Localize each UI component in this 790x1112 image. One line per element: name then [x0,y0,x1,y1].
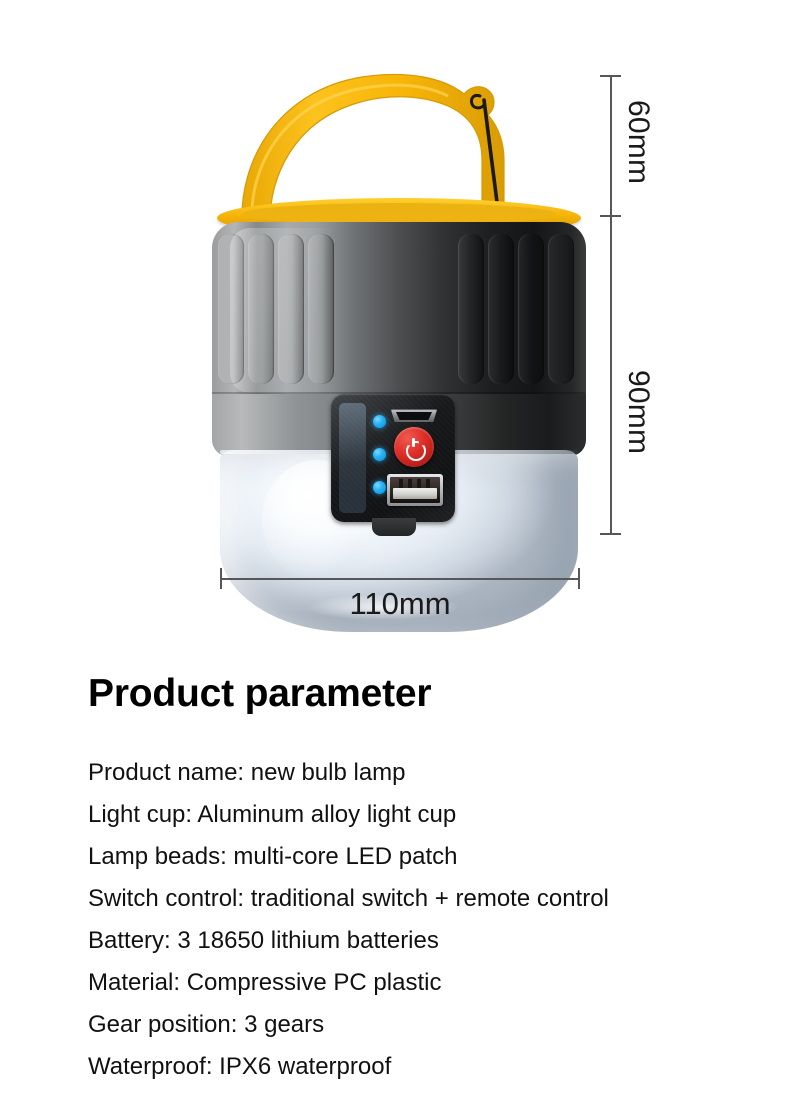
battery-led-indicator-1 [373,415,386,428]
lamp-body [212,222,586,570]
product-image-area: 60mm 90mm 110mm [0,0,790,650]
dimension-tick-middle [600,215,621,217]
camping-lamp-render [212,60,586,570]
usb-a-output-port-icon[interactable] [387,474,443,506]
dimension-line-vertical [610,75,612,535]
micro-usb-input-port-icon[interactable] [391,408,437,422]
battery-led-indicator-2 [373,448,386,461]
list-item: Product name: new bulb lamp [88,752,748,794]
list-item: Waterproof: IPX6 waterproof [88,1046,748,1088]
power-button[interactable] [394,427,434,467]
product-spec-page: 60mm 90mm 110mm Product parameter Produc… [0,0,790,1112]
list-item: Gear position: 3 gears [88,1004,748,1046]
lamp-ribbed-housing [212,222,586,402]
list-item: Switch control: traditional switch + rem… [88,878,748,920]
power-icon [405,438,423,456]
dimension-tick-bottom [600,533,621,535]
dimension-label-body-height: 90mm [621,370,655,454]
panel-indicator-strip [339,403,366,513]
list-item: Battery: 3 18650 lithium batteries [88,920,748,962]
parameter-list: Product name: new bulb lamp Light cup: A… [88,752,748,1088]
list-item: Lamp beads: multi-core LED patch [88,836,748,878]
page-title: Product parameter [88,672,431,716]
list-item: Light cup: Aluminum alloy light cup [88,794,748,836]
dimension-label-top-height: 60mm [621,100,655,184]
list-item: Material: Compressive PC plastic [88,962,748,1004]
dimension-label-width: 110mm [220,586,580,622]
dimension-tick-top [600,75,621,77]
panel-bottom-tab [372,518,416,536]
dimension-line-horizontal [220,578,580,580]
control-panel[interactable] [331,394,455,522]
battery-led-indicator-3 [373,481,386,494]
